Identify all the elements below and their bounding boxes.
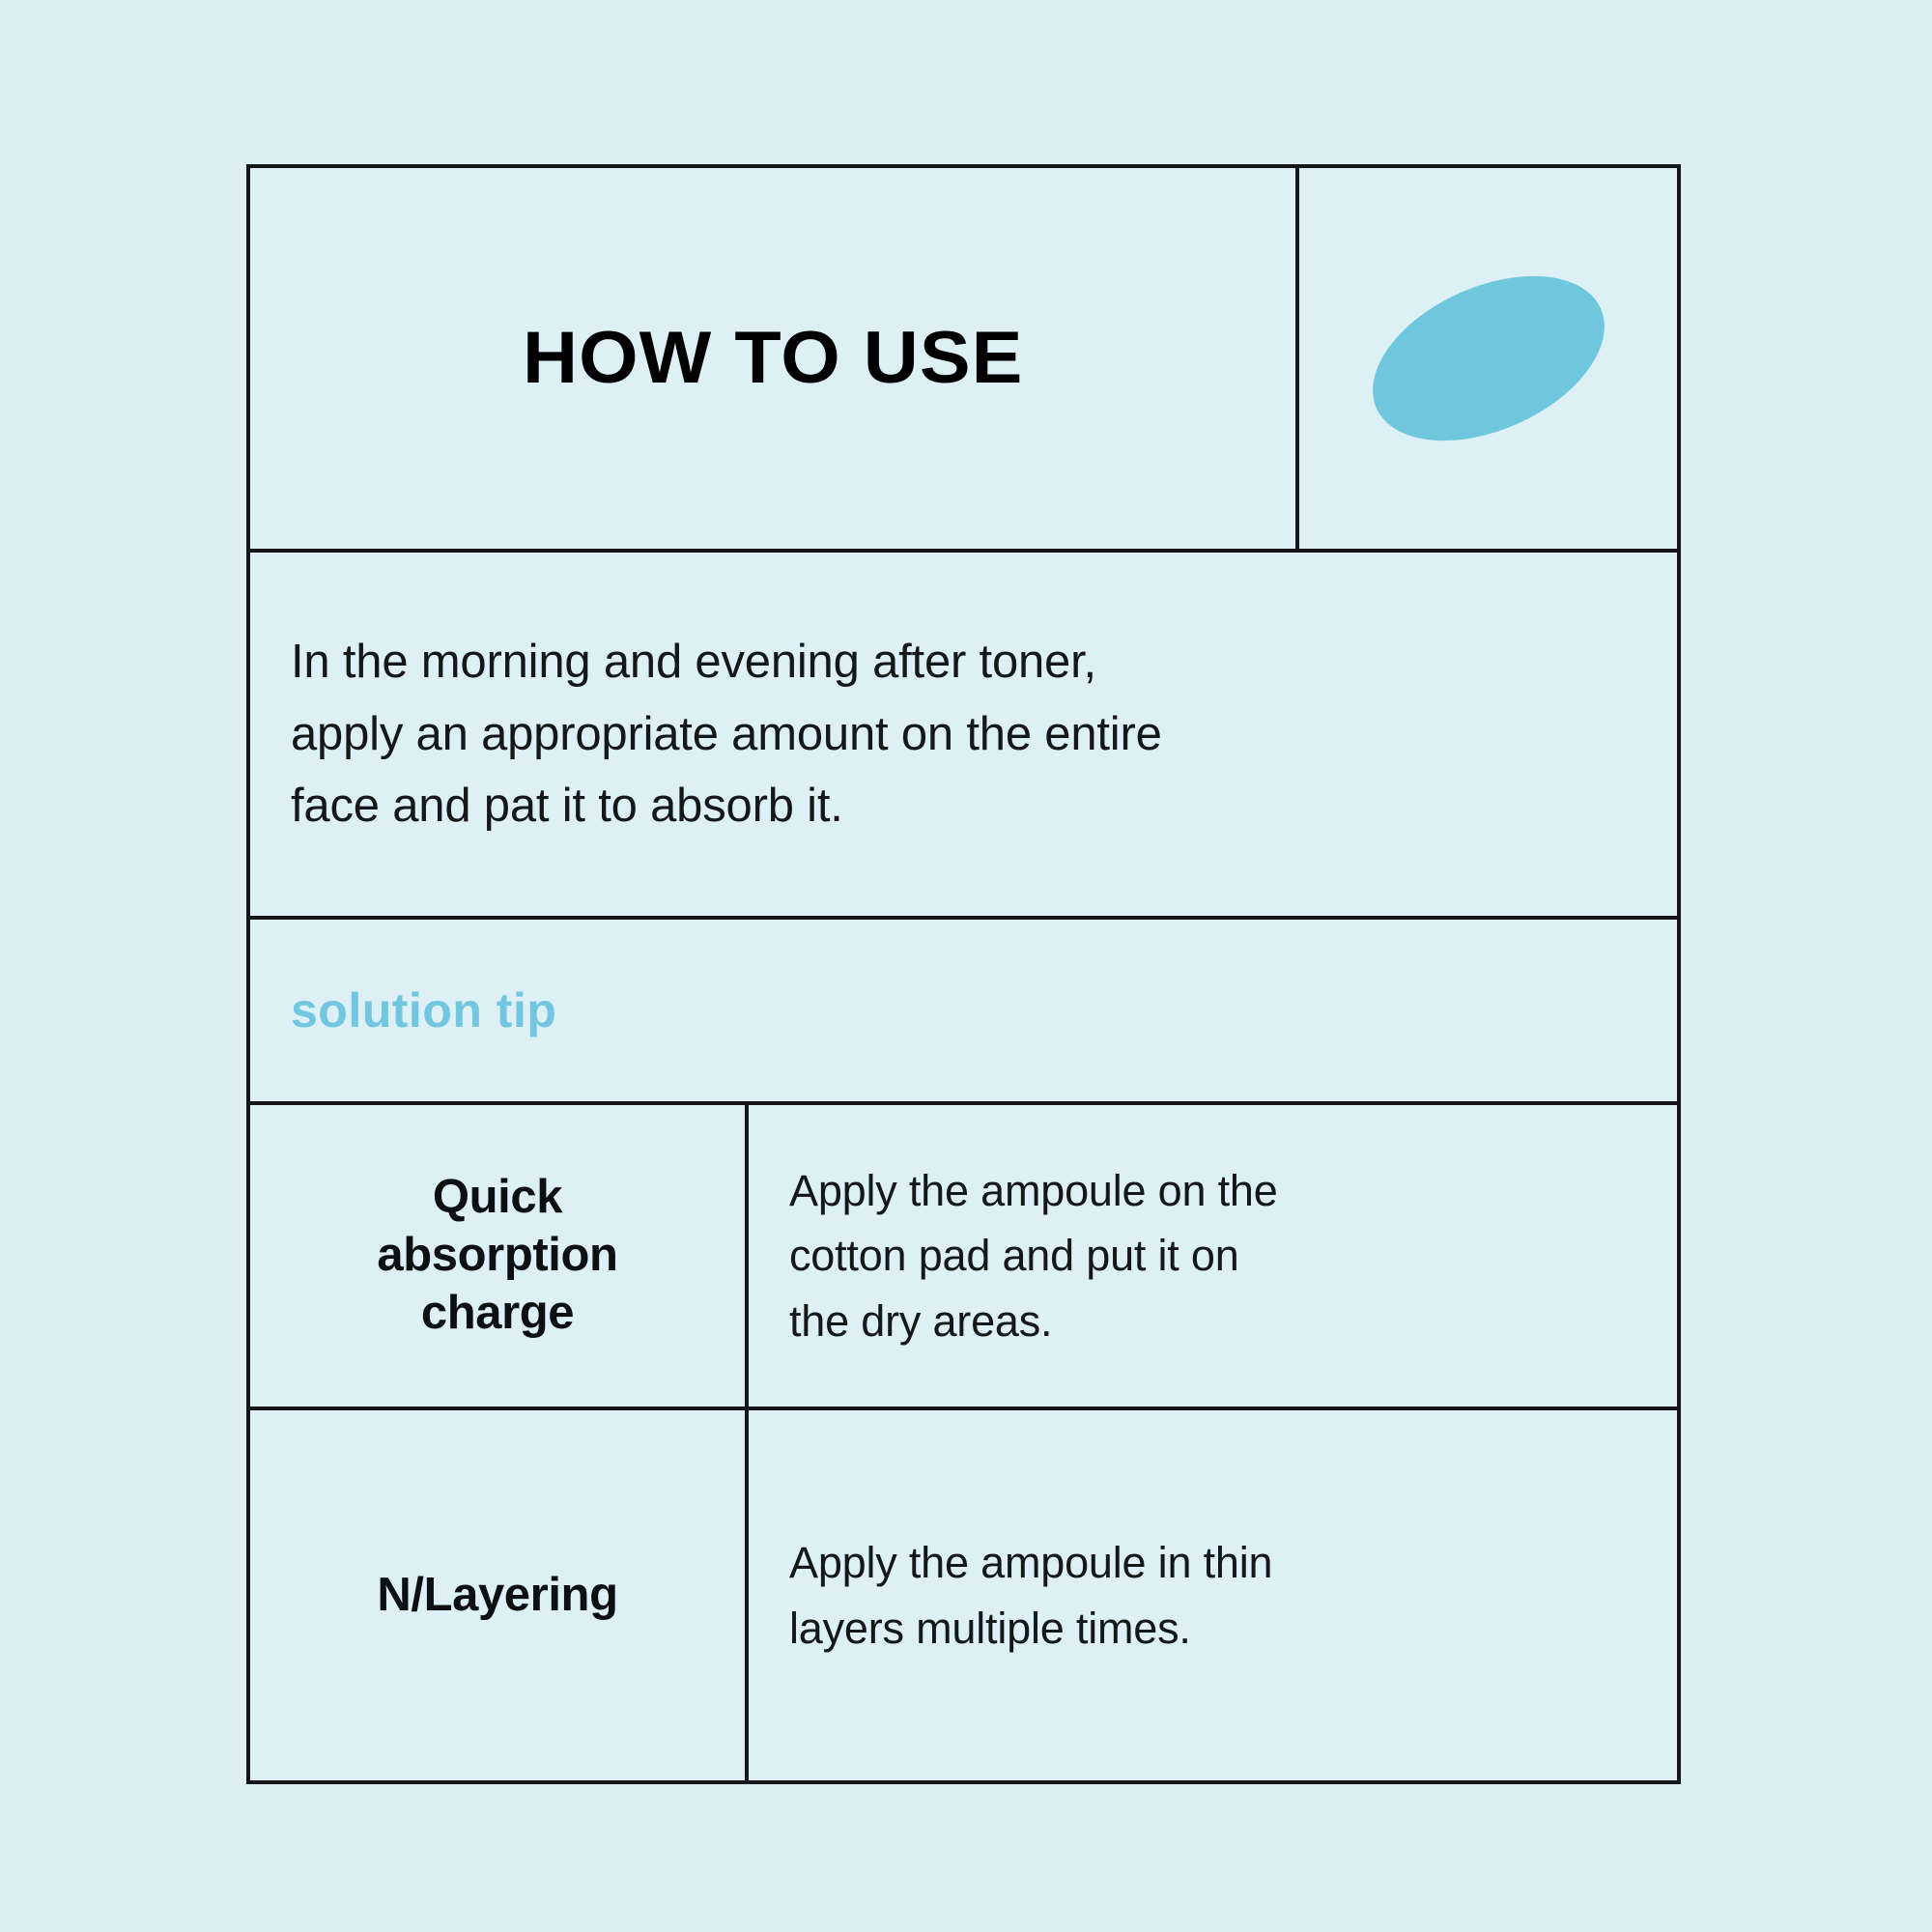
blue-ellipse-icon bbox=[1347, 243, 1629, 474]
tip-description-line-3: the dry areas. bbox=[789, 1289, 1278, 1354]
page-title: HOW TO USE bbox=[523, 322, 1023, 395]
usage-description-line-2: apply an appropriate amount on the entir… bbox=[291, 698, 1162, 770]
solution-tip-heading: solution tip bbox=[291, 986, 556, 1035]
usage-description-line-3: face and pat it to absorb it. bbox=[291, 770, 1162, 841]
tip-label-line-1: N/Layering bbox=[377, 1567, 617, 1625]
usage-description-line-1: In the morning and evening after toner, bbox=[291, 626, 1162, 697]
header-title-cell: HOW TO USE bbox=[250, 168, 1299, 549]
tip-description-cell: Apply the ampoule in thin layers multipl… bbox=[749, 1410, 1677, 1780]
tip-label-cell: Quick absorption charge bbox=[250, 1105, 749, 1406]
table-row: Quick absorption charge Apply the ampoul… bbox=[250, 1105, 1677, 1410]
tip-description-line-1: Apply the ampoule on the bbox=[789, 1158, 1278, 1224]
tip-description: Apply the ampoule in thin layers multipl… bbox=[789, 1530, 1272, 1661]
header-shape-cell bbox=[1299, 168, 1677, 549]
usage-description-text: In the morning and evening after toner, … bbox=[291, 626, 1162, 841]
how-to-use-table: HOW TO USE In the morning and evening af… bbox=[246, 164, 1681, 1784]
tip-label-line-1: Quick bbox=[377, 1169, 617, 1227]
tip-label-line-3: charge bbox=[377, 1285, 617, 1343]
tip-description-line-2: layers multiple times. bbox=[789, 1596, 1272, 1662]
tip-description: Apply the ampoule on the cotton pad and … bbox=[789, 1158, 1278, 1354]
tip-label: Quick absorption charge bbox=[377, 1169, 617, 1342]
solution-tip-heading-row: solution tip bbox=[250, 920, 1677, 1105]
header-row: HOW TO USE bbox=[250, 168, 1677, 553]
tip-description-cell: Apply the ampoule on the cotton pad and … bbox=[749, 1105, 1677, 1406]
tip-label: N/Layering bbox=[377, 1567, 617, 1625]
how-to-use-panel: HOW TO USE In the morning and evening af… bbox=[0, 0, 1932, 1932]
tip-description-line-2: cotton pad and put it on bbox=[789, 1223, 1278, 1289]
table-row: N/Layering Apply the ampoule in thin lay… bbox=[250, 1410, 1677, 1780]
tip-label-cell: N/Layering bbox=[250, 1410, 749, 1780]
tip-description-line-1: Apply the ampoule in thin bbox=[789, 1530, 1272, 1596]
tip-label-line-2: absorption bbox=[377, 1227, 617, 1285]
usage-description-row: In the morning and evening after toner, … bbox=[250, 553, 1677, 920]
